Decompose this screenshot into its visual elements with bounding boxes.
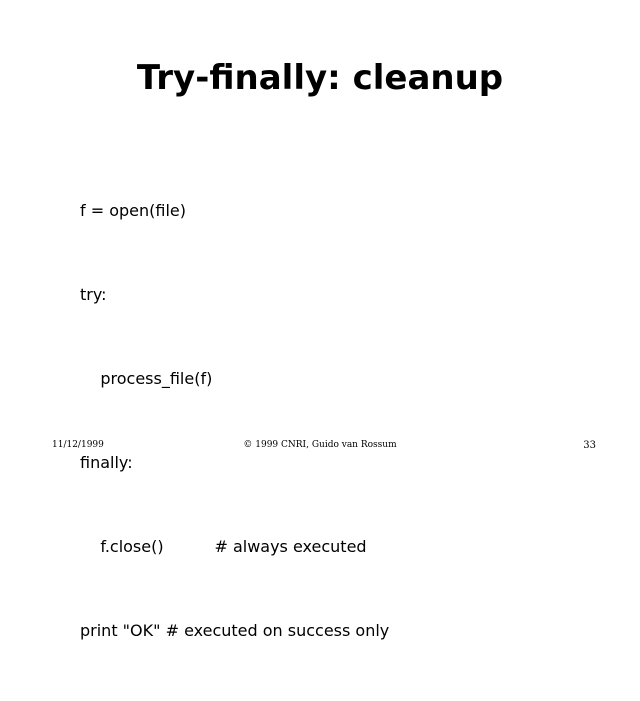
code-line: print "OK" # executed on success only: [80, 617, 600, 645]
code-line: f = open(file): [80, 197, 600, 225]
code-line: try:: [80, 281, 600, 309]
code-line: f.close() # always executed: [80, 533, 600, 561]
footer-copyright: © 1999 CNRI, Guido van Rossum: [0, 440, 640, 450]
code-block: f = open(file) try: process_file(f) fina…: [80, 141, 600, 701]
page-title: Try-finally: cleanup: [0, 58, 640, 98]
slide-footer: 11/12/1999 © 1999 CNRI, Guido van Rossum…: [0, 440, 640, 480]
footer-page-number: 33: [583, 440, 596, 451]
code-line: process_file(f): [80, 365, 600, 393]
slide: Try-finally: cleanup f = open(file) try:…: [0, 0, 640, 480]
